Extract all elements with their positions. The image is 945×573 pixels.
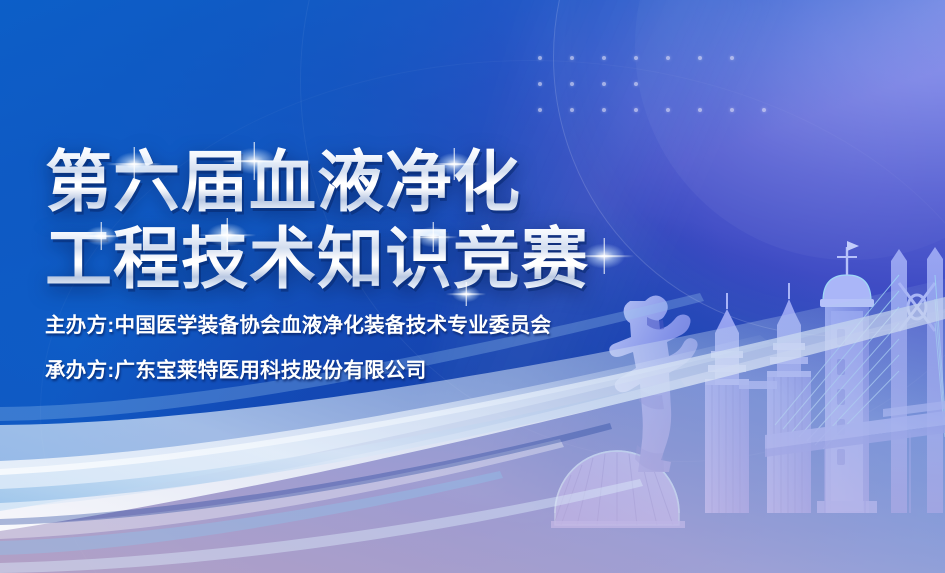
dot-row [538, 82, 794, 86]
dot-row [538, 56, 794, 60]
banner-text-block: 第六届血液净化 工程技术知识竞赛 主办方:中国医学装备协会血液净化装备技术专业委… [45, 146, 685, 386]
dot [634, 108, 638, 112]
dot [602, 82, 606, 86]
event-banner: 第六届血液净化 工程技术知识竞赛 主办方:中国医学装备协会血液净化装备技术专业委… [0, 0, 945, 573]
dot [698, 108, 702, 112]
dot [666, 108, 670, 112]
dot [634, 56, 638, 60]
dot [538, 56, 542, 60]
dot [570, 82, 574, 86]
dot [730, 56, 734, 60]
title-line-2: 工程技术知识竞赛 [45, 223, 685, 296]
organizer-line: 主办方:中国医学装备协会血液净化装备技术专业委员会 [45, 310, 685, 341]
dot [730, 108, 734, 112]
dot-matrix-decoration [538, 56, 794, 134]
dot [666, 56, 670, 60]
dot [602, 56, 606, 60]
dot [570, 108, 574, 112]
host-line: 承办方:广东宝莱特医用科技股份有限公司 [45, 355, 685, 386]
dot [634, 82, 638, 86]
dot [538, 82, 542, 86]
dot [698, 56, 702, 60]
dot [762, 108, 766, 112]
dot [538, 108, 542, 112]
dot-row [538, 108, 794, 112]
dot [602, 108, 606, 112]
title-line-1: 第六届血液净化 [45, 146, 685, 219]
dot [570, 56, 574, 60]
